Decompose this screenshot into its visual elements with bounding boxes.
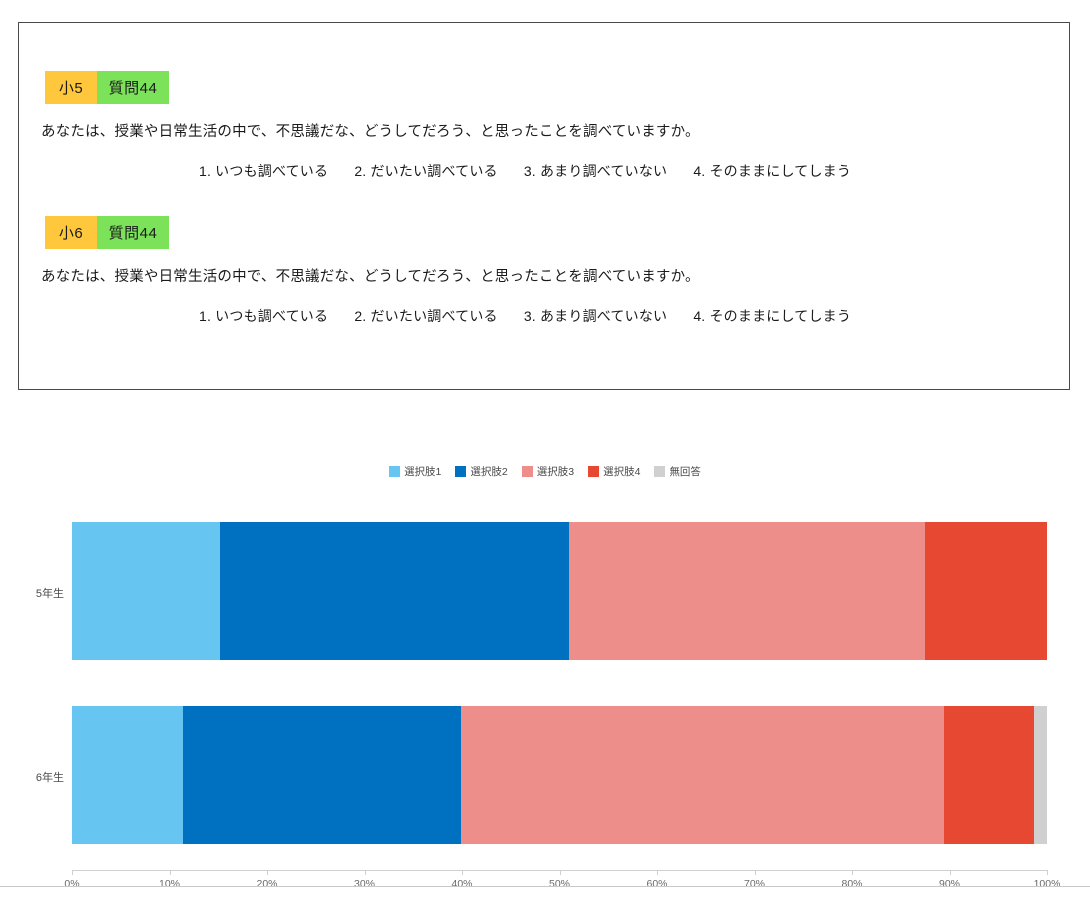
x-tick-0%: [72, 870, 73, 875]
stacked-bar-chart: 選択肢1選択肢2選択肢3選択肢4無回答 5年生 6年生 0%10%20%30%4…: [0, 420, 1090, 900]
x-tick-label-100%: 100%: [1034, 878, 1061, 890]
grade-badge-grade6: 小6: [45, 216, 97, 249]
x-tick-70%: [755, 870, 756, 875]
question-options-grade6: 1. いつも調べている 2. だいたい調べている 3. あまり調べていない 4.…: [199, 306, 1069, 326]
bar-segment-6年生-無回答[interactable]: [1034, 706, 1047, 844]
x-tick-40%: [462, 870, 463, 875]
x-tick-label-50%: 50%: [549, 878, 570, 890]
bar-segment-5年生-選択肢4[interactable]: [925, 522, 1047, 660]
question-panel: 小5 質問44 あなたは、授業や日常生活の中で、不思議だな、どうしてだろう、と思…: [18, 22, 1070, 390]
bar-row-grade6: [72, 706, 1047, 844]
x-tick-80%: [852, 870, 853, 875]
x-tick-20%: [267, 870, 268, 875]
option-4-grade5: 4. そのままにしてしまう: [693, 163, 851, 179]
x-tick-label-0%: 0%: [64, 878, 79, 890]
x-tick-label-20%: 20%: [256, 878, 277, 890]
x-tick-50%: [560, 870, 561, 875]
question-text-grade5: あなたは、授業や日常生活の中で、不思議だな、どうしてだろう、と思ったことを調べて…: [41, 122, 1069, 142]
badge-row-grade6: 小6 質問44: [45, 216, 169, 249]
option-1-grade5: 1. いつも調べている: [199, 163, 328, 179]
x-tick-30%: [365, 870, 366, 875]
bar-segment-6年生-選択肢1[interactable]: [72, 706, 183, 844]
x-tick-90%: [950, 870, 951, 875]
question-number-badge-grade6: 質問44: [97, 216, 169, 249]
question-text-grade6: あなたは、授業や日常生活の中で、不思議だな、どうしてだろう、と思ったことを調べて…: [41, 267, 1069, 287]
option-2-grade5: 2. だいたい調べている: [354, 163, 497, 179]
bar-segment-5年生-選択肢3[interactable]: [569, 522, 925, 660]
bar-segment-6年生-選択肢2[interactable]: [183, 706, 461, 844]
badge-row-grade5: 小5 質問44: [45, 71, 169, 104]
question-block-grade5: 小5 質問44 あなたは、授業や日常生活の中で、不思議だな、どうしてだろう、と思…: [19, 71, 1069, 181]
x-tick-label-40%: 40%: [451, 878, 472, 890]
x-tick-label-10%: 10%: [159, 878, 180, 890]
option-1-grade6: 1. いつも調べている: [199, 308, 328, 324]
bar-track-grade6: [72, 706, 1047, 844]
option-3-grade6: 3. あまり調べていない: [524, 308, 667, 324]
x-tick-label-70%: 70%: [744, 878, 765, 890]
x-tick-label-60%: 60%: [646, 878, 667, 890]
bar-segment-6年生-選択肢4[interactable]: [944, 706, 1035, 844]
question-block-grade6: 小6 質問44 あなたは、授業や日常生活の中で、不思議だな、どうしてだろう、と思…: [19, 216, 1069, 326]
bar-track-grade5: [72, 522, 1047, 660]
x-tick-label-90%: 90%: [939, 878, 960, 890]
option-3-grade5: 3. あまり調べていない: [524, 163, 667, 179]
x-tick-label-80%: 80%: [841, 878, 862, 890]
chart-plot-area: 5年生 6年生 0%10%20%30%40%50%60%70%80%90%100…: [0, 420, 1090, 900]
bar-row-grade5: [72, 522, 1047, 660]
bottom-divider: [0, 886, 1090, 887]
bar-segment-6年生-選択肢3[interactable]: [461, 706, 944, 844]
x-tick-60%: [657, 870, 658, 875]
grade-badge-grade5: 小5: [45, 71, 97, 104]
category-label-grade5: 5年生: [6, 585, 64, 601]
x-tick-100%: [1047, 870, 1048, 875]
x-tick-10%: [170, 870, 171, 875]
question-options-grade5: 1. いつも調べている 2. だいたい調べている 3. あまり調べていない 4.…: [199, 161, 1069, 181]
option-2-grade6: 2. だいたい調べている: [354, 308, 497, 324]
bar-segment-5年生-選択肢2[interactable]: [220, 522, 569, 660]
bar-segment-5年生-選択肢1[interactable]: [72, 522, 220, 660]
option-4-grade6: 4. そのままにしてしまう: [693, 308, 851, 324]
category-label-grade6: 6年生: [6, 769, 64, 785]
x-tick-label-30%: 30%: [354, 878, 375, 890]
question-number-badge-grade5: 質問44: [97, 71, 169, 104]
